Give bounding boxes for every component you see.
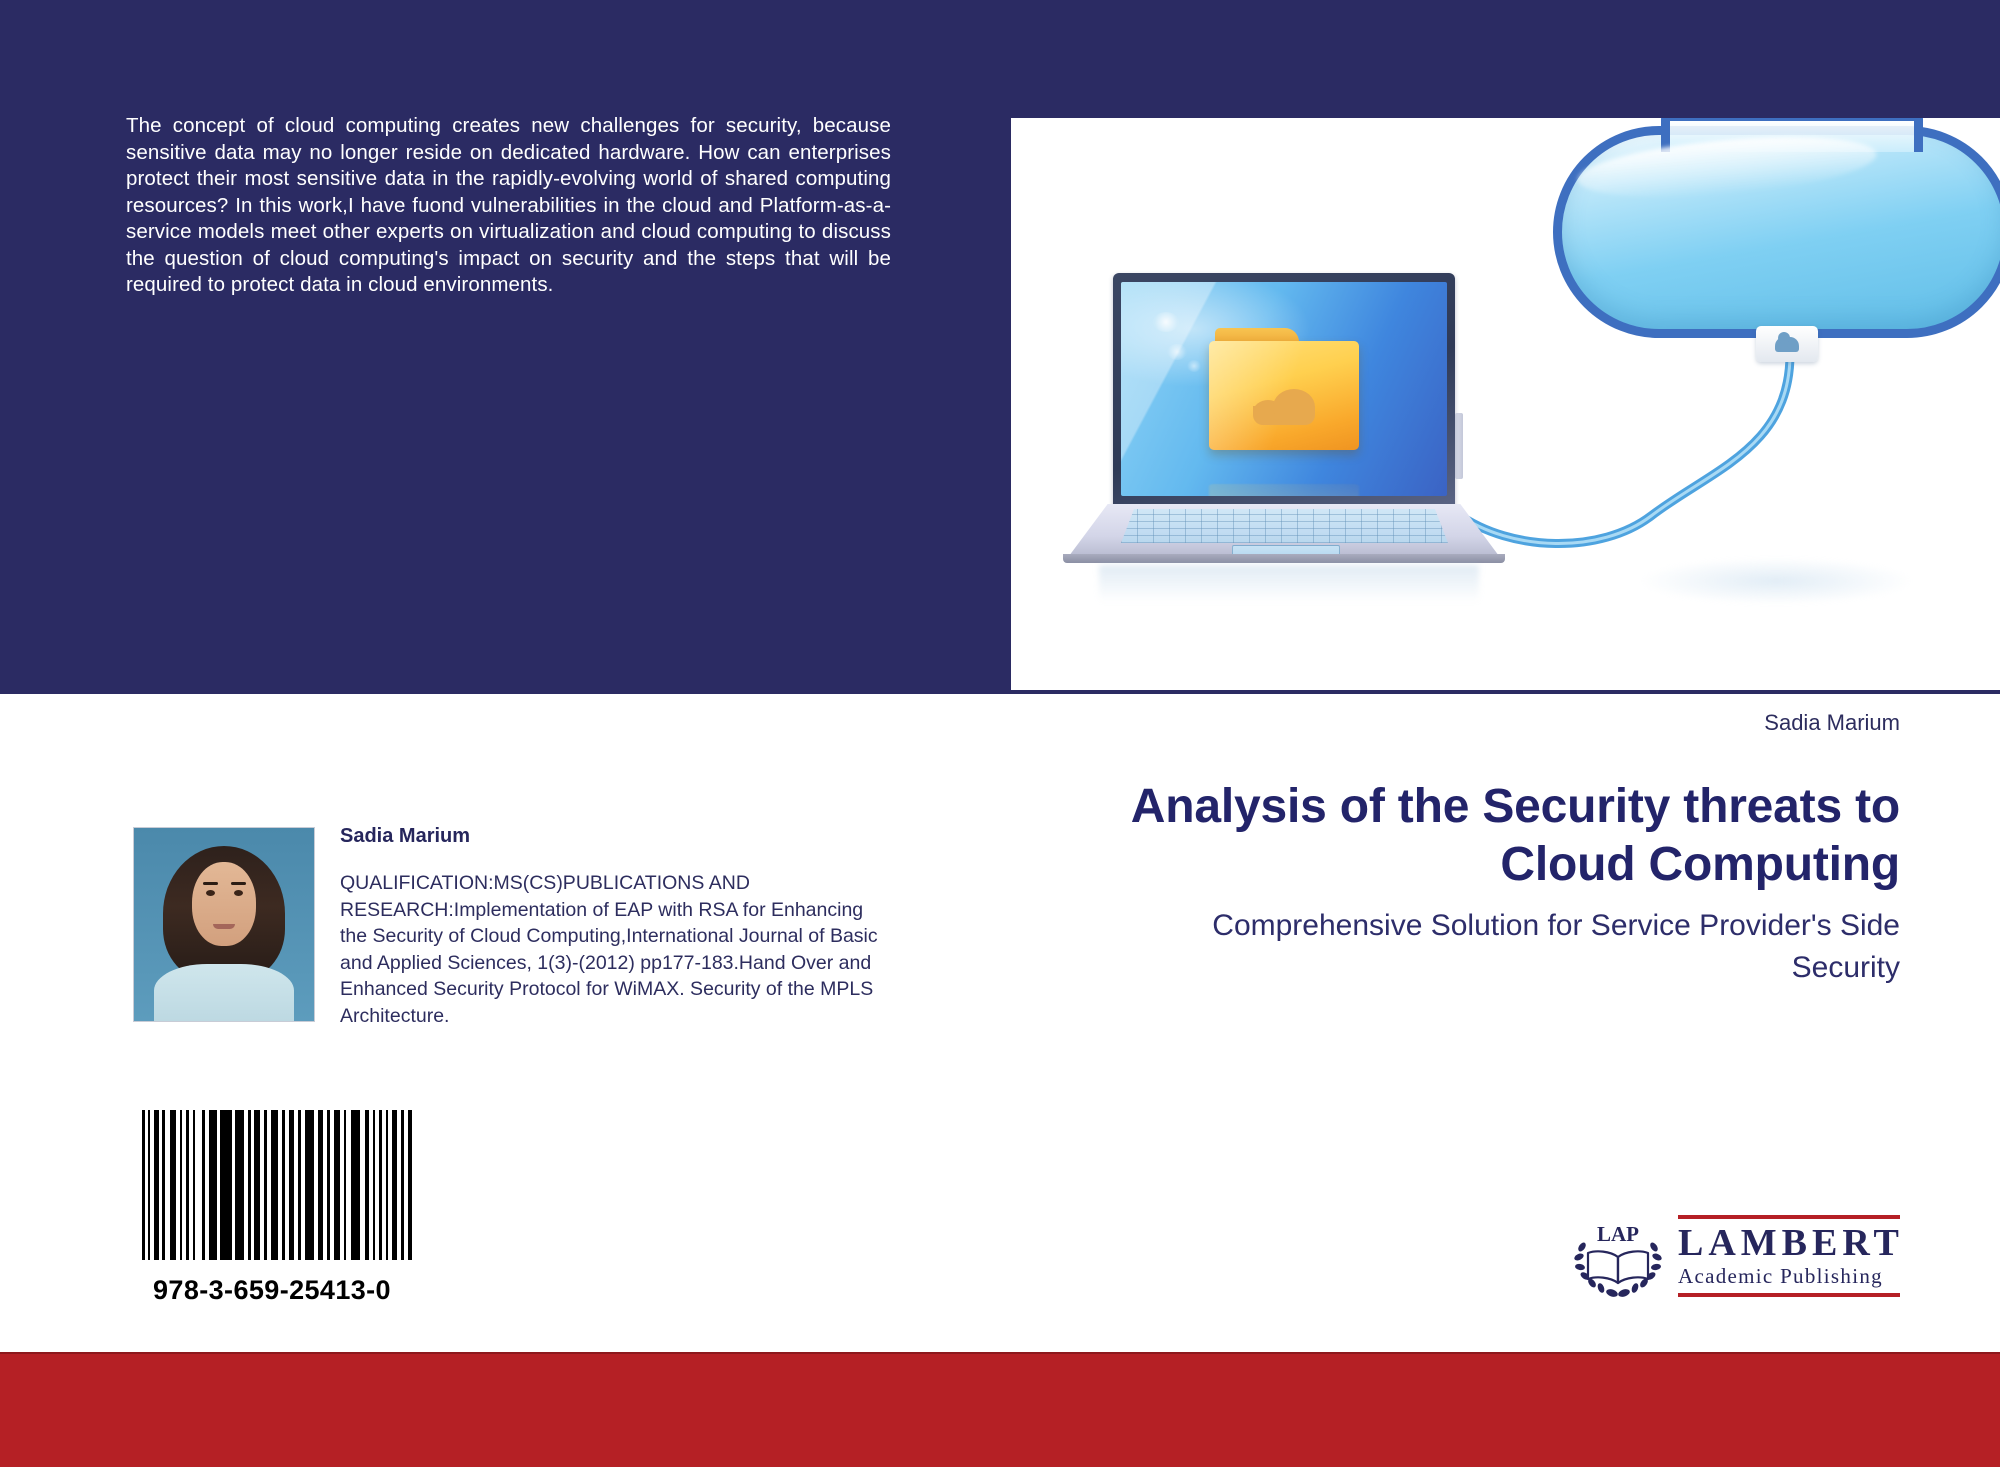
page-title: Analysis of the Security threats to Clou…: [1080, 778, 1900, 894]
svg-text:LAP: LAP: [1597, 1222, 1639, 1246]
cloud-shape-icon: [1553, 126, 2000, 356]
top-navy-band: [1011, 0, 2000, 118]
barcode-block: 978-3-659-25413-0: [140, 1110, 425, 1306]
publisher-logo: LAP LAMBERT Academic Publishing: [1570, 1213, 1900, 1305]
avatar: [133, 827, 315, 1022]
author-bio-text: QUALIFICATION:MS(CS)PUBLICATIONS AND RES…: [340, 870, 895, 1029]
logo-rule-bottom: [1678, 1293, 1900, 1297]
front-cover-subtitle: Comprehensive Solution for Service Provi…: [1100, 905, 1900, 989]
cloud-plug-icon: [1756, 326, 1818, 362]
publisher-wordmark: LAMBERT Academic Publishing: [1678, 1215, 1900, 1297]
barcode-icon: [140, 1110, 416, 1260]
author-bio-block: Sadia Marium QUALIFICATION:MS(CS)PUBLICA…: [340, 823, 895, 1029]
laptop-screen: [1121, 282, 1447, 496]
lap-book-wreath-icon: LAP: [1570, 1217, 1666, 1301]
author-name: Sadia Marium: [340, 823, 895, 849]
publisher-name: LAMBERT: [1678, 1222, 1900, 1264]
folder-icon: [1209, 328, 1359, 450]
front-cover-author: Sadia Marium: [1100, 710, 1900, 736]
laptop-icon: [1069, 273, 1499, 573]
logo-rule-top: [1678, 1215, 1900, 1219]
isbn-number: 978-3-659-25413-0: [140, 1275, 425, 1306]
back-cover-panel: [0, 0, 1011, 693]
cover-divider-rule: [0, 690, 2000, 694]
back-cover-blurb: The concept of cloud computing creates n…: [126, 113, 891, 299]
publisher-tagline: Academic Publishing: [1678, 1264, 1900, 1289]
cloud-glyph-icon: [1251, 387, 1317, 425]
cover-illustration: [1011, 118, 2000, 690]
bottom-red-band: [0, 1352, 2000, 1467]
